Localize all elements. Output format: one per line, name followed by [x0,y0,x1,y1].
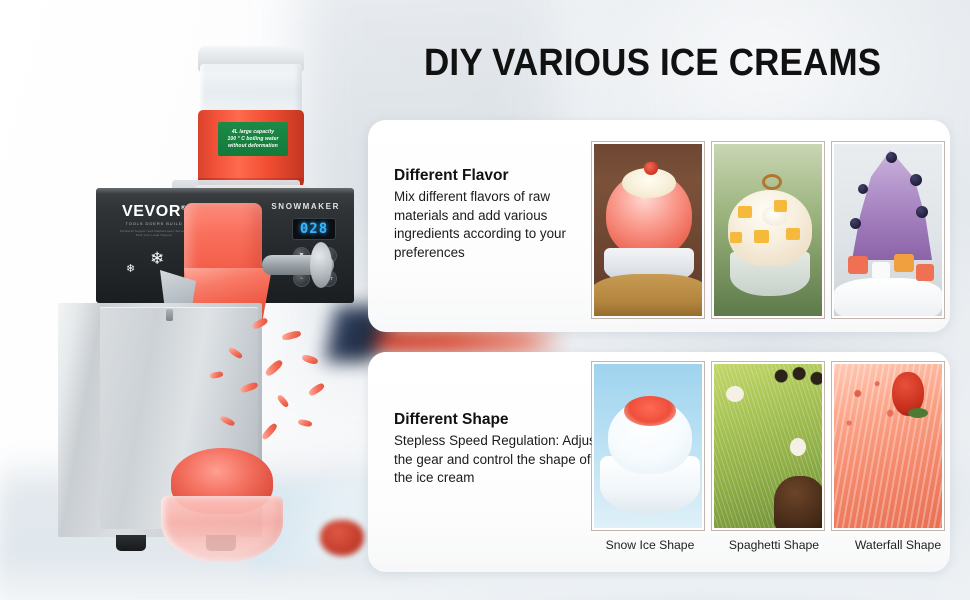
wooden-tray [592,274,704,318]
page-title: DIY VARIOUS ICE CREAMS [424,42,902,85]
fruit-cube [916,264,934,281]
shape-photo-row [592,362,944,530]
tank-label-line-1: 4L large capacity [232,129,274,135]
blueberry-topping [910,174,922,186]
chocolate-scoop [774,476,824,530]
pretzel-topping [762,174,782,190]
ice-flake [307,382,325,397]
snowflake-icon-small: ❄ [126,264,135,275]
ice-flake [261,422,279,441]
fruit-cube [894,254,914,272]
strawberry-topping [644,162,658,175]
strawberry-bingsu-photo [592,142,704,318]
flavor-body: Mix different flavors of raw materials a… [394,188,599,262]
water-tank-label-sticker: 4L large capacity 100 ° C boiling water … [218,122,288,156]
snow-ice-shape-photo [592,362,704,530]
vevor-brand-name: VEVOR® [116,204,192,220]
mango-cube [774,200,787,212]
caption-waterfall-shape: Waterfall Shape [840,538,956,553]
snowflake-icon: ❄ [150,250,164,267]
ice-flake [298,419,313,428]
mango-cube [738,206,752,218]
machine-foot-left [116,535,146,551]
waterfall-shape-photo [832,362,944,530]
water-tank-red-body: 4L large capacity 100 ° C boiling water … [198,110,304,188]
flavor-text-block: Different Flavor Mix different flavors o… [394,166,599,262]
machine-roller-knob [310,242,332,288]
blueberry-topping [916,206,928,218]
red-bean-topping [770,364,824,388]
caption-spaghetti-shape: Spaghetti Shape [716,538,832,553]
flavor-title: Different Flavor [394,166,599,186]
strawberry-leaf [908,408,928,418]
taro-ice-mound [852,150,932,260]
strawberry-syrup [624,396,676,426]
vevor-logo: VEVOR® TOOLS DOERS BUILD Technical Suppo… [116,204,192,237]
vevor-tagline: TOOLS DOERS BUILD [116,222,192,227]
ice-flake [276,394,290,409]
photo-plate [834,278,942,316]
shaved-ice-bowl [157,448,287,564]
led-display-value: 028 [300,221,328,237]
led-display: 028 [292,218,336,240]
fruit-cube [848,256,868,274]
ice-flake [281,330,301,341]
ice-flake [301,354,318,366]
fruit-cube [872,262,890,279]
mango-cube [754,230,769,243]
product-marketing-image: 4L large capacity 100 ° C boiling water … [0,0,970,600]
vevor-wordmark: VEVOR [122,203,181,220]
mango-fruit-bingsu-photo [712,142,824,318]
shape-text-block: Different Shape Stepless Speed Regulatio… [394,410,604,488]
blueberry-topping [858,184,868,194]
mango-cube [786,228,800,240]
shape-body: Stepless Speed Regulation: Adjust the ge… [394,432,604,488]
model-label: SNOWMAKER [271,202,340,211]
cabinet-latch[interactable] [166,309,173,321]
blueberry-topping [850,218,861,229]
tank-label-line-2: 100 ° C boiling water [227,136,278,142]
water-tank-clear-section [200,64,302,116]
bowl-glass [161,496,283,562]
spaghetti-shape-photo [712,362,824,530]
shape-caption-row: Snow Ice Shape Spaghetti Shape Waterfall… [592,538,956,553]
cream-dollop [790,438,806,456]
taro-blueberry-bingsu-photo [832,142,944,318]
cream-dollop [726,386,744,402]
vevor-subtext: Technical Support and Replacement Servic… [116,230,192,238]
shape-title: Different Shape [394,410,604,430]
flavor-photo-row [592,142,944,318]
mango-cube [730,232,742,243]
syrup-specks [834,364,942,528]
tank-label-line-3: without deformation [228,143,278,149]
snow-ice-machine: 4L large capacity 100 ° C boiling water … [14,20,374,550]
blueberry-topping [886,152,897,163]
ice-flake [264,358,284,377]
caption-snow-ice-shape: Snow Ice Shape [592,538,708,553]
